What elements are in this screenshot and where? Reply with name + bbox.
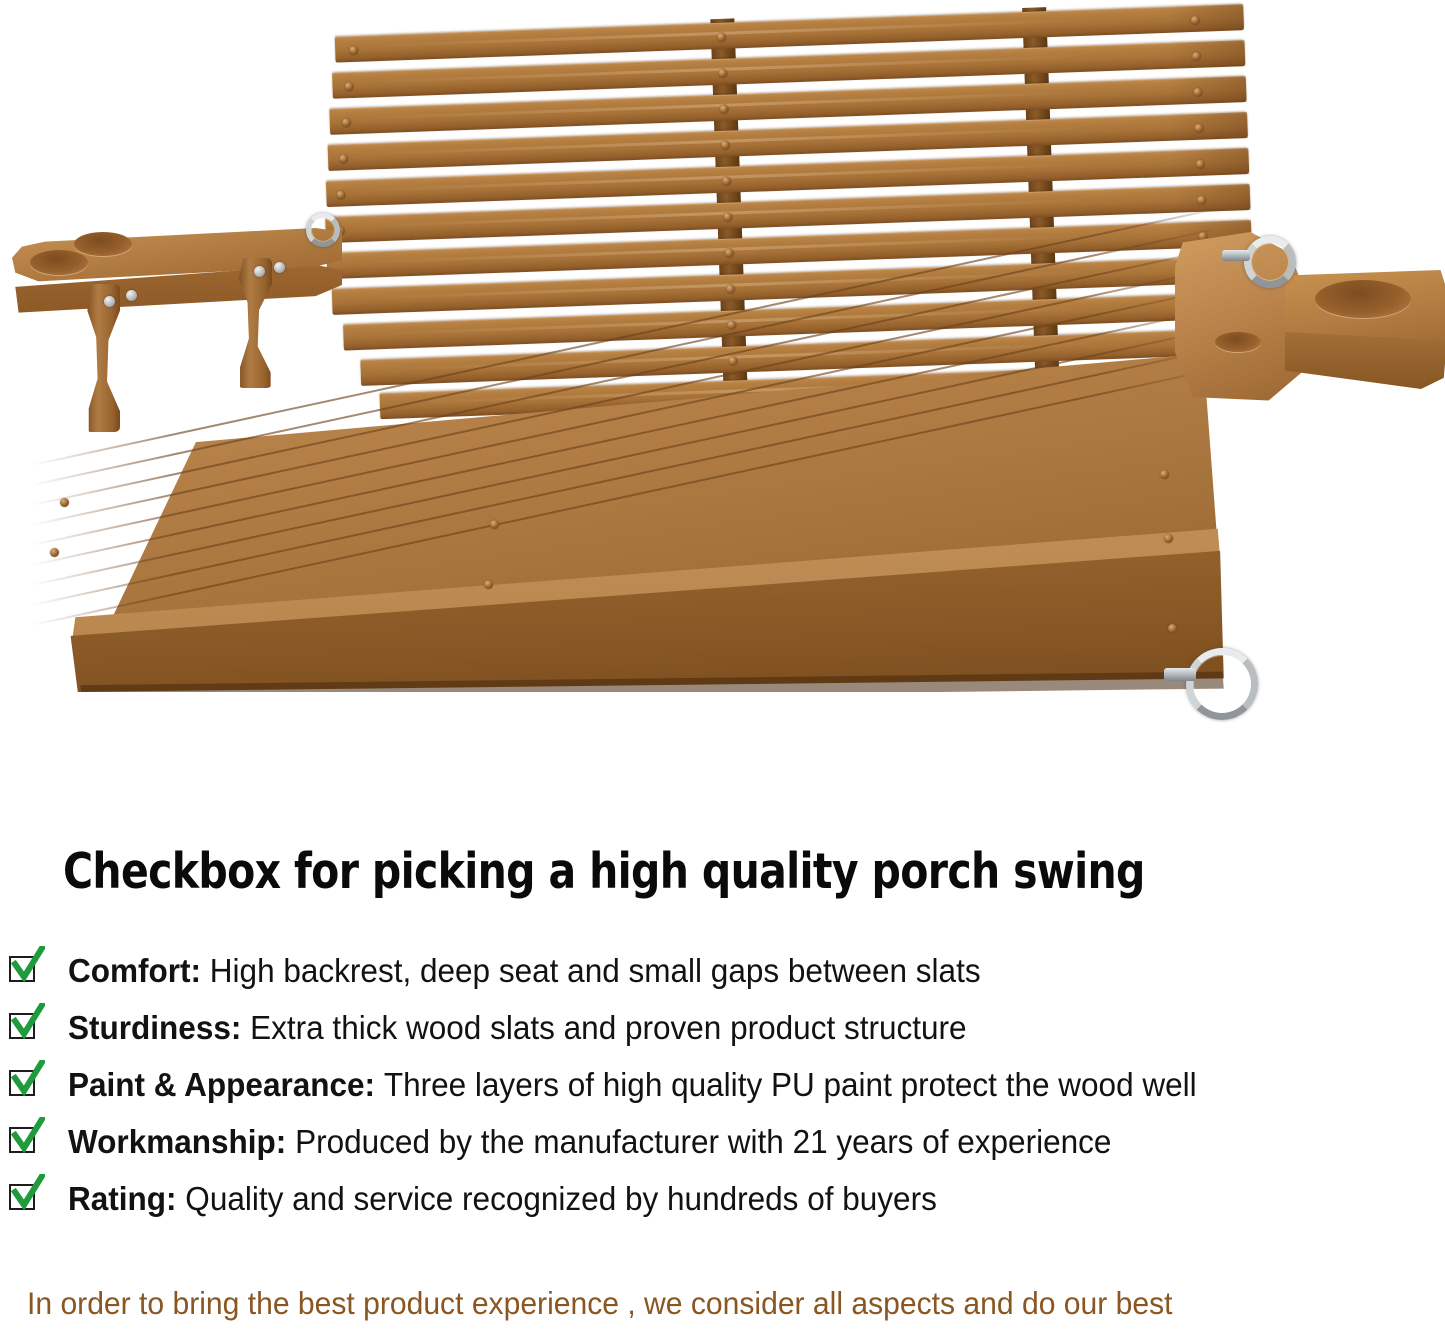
list-item-desc: Extra thick wood slats and proven produc… [250, 1009, 966, 1046]
eye-bolt-shank [1164, 668, 1196, 681]
list-item-label: Paint & Appearance: [68, 1066, 384, 1103]
hanging-ring-top-right [1244, 236, 1296, 288]
seat-screw [484, 580, 493, 589]
hanging-ring-bottom-right [1186, 648, 1258, 720]
list-item-desc: Three layers of high quality PU paint pr… [384, 1066, 1197, 1103]
checkbox-checked[interactable] [9, 1066, 43, 1100]
list-item-label: Rating: [68, 1180, 185, 1217]
list-item-text: Comfort: High backrest, deep seat and sm… [68, 948, 981, 994]
check-icon [11, 1003, 45, 1043]
check-icon [11, 1174, 45, 1214]
list-item-label: Comfort: [68, 952, 210, 989]
footer-note: In order to bring the best product exper… [27, 1283, 1172, 1323]
list-item-desc: High backrest, deep seat and small gaps … [210, 952, 981, 989]
feature-checklist: Comfort: High backrest, deep seat and sm… [0, 948, 1445, 1233]
right-armrest [1175, 232, 1445, 417]
page-title: Checkbox for picking a high quality porc… [63, 843, 1145, 901]
check-icon [11, 1117, 45, 1157]
list-item: Comfort: High backrest, deep seat and sm… [0, 948, 1445, 1005]
armrest-bolt [254, 266, 265, 277]
seat-screw [60, 498, 69, 507]
seat-screw [50, 548, 59, 557]
list-item: Workmanship: Produced by the manufacture… [0, 1119, 1445, 1176]
cup-holder-recess [30, 250, 88, 275]
check-icon [11, 1060, 45, 1100]
checkbox-checked[interactable] [9, 1180, 43, 1214]
right-armrest-front-face [1285, 332, 1445, 394]
list-item-text: Sturdiness: Extra thick wood slats and p… [68, 1005, 967, 1051]
list-item-label: Sturdiness: [68, 1009, 250, 1046]
list-item-label: Workmanship: [68, 1123, 295, 1160]
list-item: Sturdiness: Extra thick wood slats and p… [0, 1005, 1445, 1062]
left-armrest-support-rear [238, 258, 272, 388]
checkbox-checked[interactable] [9, 1123, 43, 1157]
armrest-bolt [274, 262, 285, 273]
eye-bolt-shank [1222, 250, 1250, 261]
product-feature-image: Checkbox for picking a high quality porc… [0, 0, 1445, 1332]
check-icon [11, 946, 45, 986]
seat-screw [1164, 534, 1173, 543]
list-item: Rating: Quality and service recognized b… [0, 1176, 1445, 1233]
seat-screw [1160, 470, 1169, 479]
cup-holder-recess [74, 232, 132, 256]
seat-screw [1168, 624, 1177, 633]
list-item-desc: Quality and service recognized by hundre… [185, 1180, 937, 1217]
armrest-bolt [104, 296, 115, 307]
cup-holder-recess [1315, 280, 1411, 318]
list-item-text: Rating: Quality and service recognized b… [68, 1176, 937, 1222]
cup-holder-recess [1215, 332, 1261, 352]
list-item-text: Workmanship: Produced by the manufacture… [68, 1119, 1111, 1165]
product-photo [0, 0, 1445, 780]
armrest-bolt [126, 290, 137, 301]
seat-screw [490, 520, 499, 529]
list-item-desc: Produced by the manufacturer with 21 yea… [295, 1123, 1111, 1160]
list-item-text: Paint & Appearance: Three layers of high… [68, 1062, 1197, 1108]
checkbox-checked[interactable] [9, 952, 43, 986]
left-armrest-support-front [86, 284, 120, 432]
checkbox-checked[interactable] [9, 1009, 43, 1043]
hanging-ring-top-left [306, 213, 340, 247]
left-armrest [12, 228, 342, 438]
list-item: Paint & Appearance: Three layers of high… [0, 1062, 1445, 1119]
